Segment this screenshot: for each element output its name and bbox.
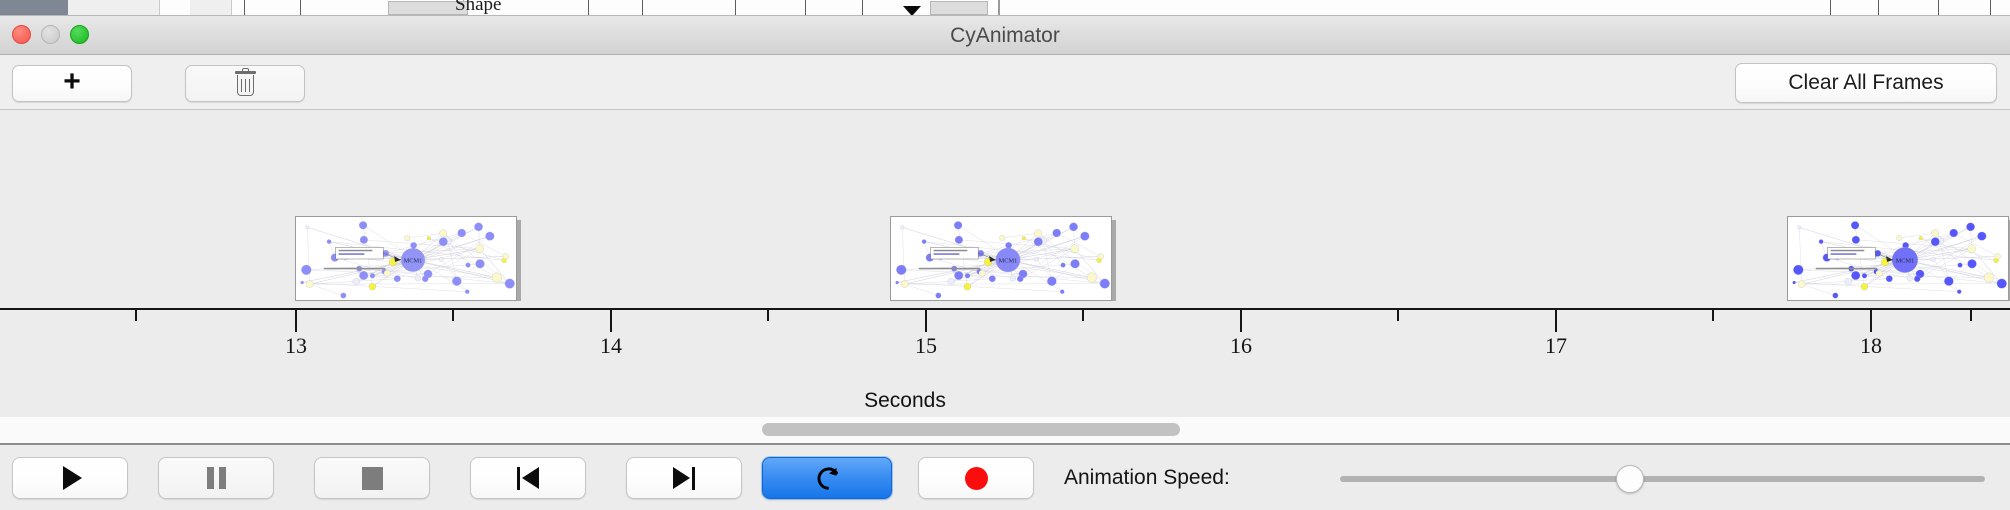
animation-speed-slider[interactable]: [1340, 476, 1985, 482]
background-window-strip: Shape: [0, 0, 2010, 16]
animation-speed-slider-thumb[interactable]: [1616, 465, 1644, 493]
skip-next-icon: [673, 467, 695, 490]
background-tick: [300, 0, 301, 16]
plus-icon: +: [63, 67, 81, 97]
delete-frame-button[interactable]: [185, 65, 305, 102]
ruler-label-18: 18: [1860, 333, 1882, 359]
svg-text:MCM1: MCM1: [1896, 258, 1915, 265]
timeline-ruler[interactable]: 2131415161718: [0, 301, 2010, 359]
background-tick: [642, 0, 643, 16]
skip-to-start-button[interactable]: [470, 457, 586, 499]
timeline-scrollbar-thumb[interactable]: [762, 423, 1180, 436]
ruler-tick-18.5: [1970, 310, 1972, 321]
background-tick: [735, 0, 736, 16]
ruler-label-13: 13: [285, 333, 307, 359]
pause-button[interactable]: [158, 457, 274, 499]
ruler-tick-17: [1555, 310, 1557, 332]
frame-timeline-track[interactable]: MCM1MCM1MCM1: [0, 111, 2010, 301]
background-arrow-icon: [903, 6, 921, 16]
ruler-tick-13.5: [452, 310, 454, 321]
title-bar: CyAnimator: [0, 16, 2010, 55]
ruler-tick-13: [295, 310, 297, 332]
background-segment: [68, 0, 160, 16]
pause-icon: [207, 467, 226, 489]
stop-icon: [362, 467, 383, 490]
add-frame-button[interactable]: +: [12, 65, 132, 102]
background-window-label: Shape: [455, 0, 501, 16]
stop-button[interactable]: [314, 457, 430, 499]
background-tick: [862, 0, 863, 16]
background-tick: [805, 0, 806, 16]
ruler-label-17: 17: [1545, 333, 1567, 359]
play-icon: [59, 466, 82, 490]
window-title: CyAnimator: [0, 16, 2010, 55]
timeline-frame-thumbnail[interactable]: MCM1: [890, 216, 1112, 301]
background-tick: [1830, 0, 1831, 16]
ruler-label-15: 15: [915, 333, 937, 359]
svg-text:MCM1: MCM1: [404, 258, 423, 265]
ruler-tick-14: [610, 310, 612, 332]
timeline-axis-title: Seconds: [0, 389, 2010, 413]
playback-control-bar: Animation Speed:: [0, 447, 2010, 510]
ruler-tick-15: [925, 310, 927, 332]
background-panel: [0, 0, 68, 16]
ruler-tick-12.5: [135, 310, 137, 321]
background-tick: [588, 0, 589, 16]
background-tick: [244, 0, 245, 16]
ruler-tick-16: [1240, 310, 1242, 332]
frame-toolbar: + Clear All Frames: [0, 55, 2010, 110]
timeline-frame-thumbnail[interactable]: MCM1: [295, 216, 517, 301]
skip-previous-icon: [517, 467, 539, 490]
ruler-label-16: 16: [1230, 333, 1252, 359]
trash-icon: [235, 71, 256, 97]
clear-all-frames-label: Clear All Frames: [1788, 71, 1943, 95]
ruler-tick-16.5: [1397, 310, 1399, 321]
play-button[interactable]: [12, 457, 128, 499]
ruler-tick-18: [1870, 310, 1872, 332]
animation-speed-label: Animation Speed:: [1064, 457, 1230, 499]
ruler-label-14: 14: [600, 333, 622, 359]
ruler-tick-15.5: [1082, 310, 1084, 321]
svg-text:MCM1: MCM1: [999, 258, 1018, 265]
timeline-frame-thumbnail[interactable]: MCM1: [1787, 216, 2009, 301]
clear-all-frames-button[interactable]: Clear All Frames: [1735, 63, 1997, 103]
record-button[interactable]: [918, 457, 1034, 499]
loop-refresh-icon: [814, 465, 841, 492]
timeline-axis-title-text: Seconds: [864, 389, 946, 412]
cyanimator-window: Shape CyAnimator +: [0, 0, 2010, 510]
background-box: [930, 1, 988, 15]
ruler-tick-14.5: [767, 310, 769, 321]
background-tick: [1878, 0, 1879, 16]
background-tick: [1938, 0, 1939, 16]
loop-button[interactable]: [762, 457, 892, 499]
ruler-baseline: [0, 308, 2010, 310]
timeline-horizontal-scrollbar[interactable]: [0, 417, 2010, 445]
ruler-tick-17.5: [1712, 310, 1714, 321]
background-segment: [190, 0, 232, 16]
background-divider: [998, 0, 1000, 16]
background-tick: [1990, 0, 1991, 16]
skip-to-end-button[interactable]: [626, 457, 742, 499]
record-circle-icon: [965, 467, 988, 490]
